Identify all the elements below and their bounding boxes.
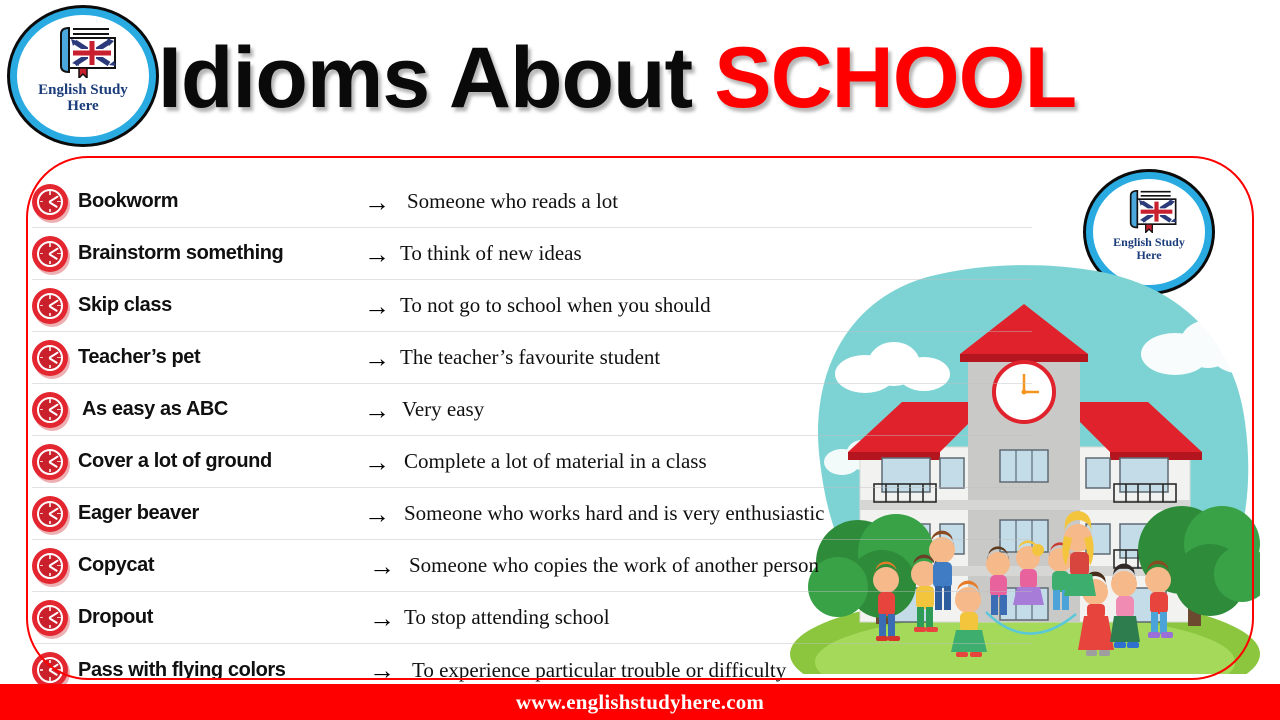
- logo-line1: English Study: [1113, 236, 1185, 249]
- title-accent: SCHOOL: [714, 29, 1076, 128]
- clock-bullet-icon: [32, 444, 68, 480]
- footer-bar: www.englishstudyhere.com: [0, 684, 1280, 720]
- idiom-term: Cover a lot of ground: [78, 450, 272, 473]
- clock-bullet-icon: [32, 652, 68, 688]
- book-uk-flag-icon: [47, 24, 119, 78]
- idiom-row: Teacher’s pet→The teacher’s favourite st…: [32, 332, 1032, 384]
- logo-line2: Here: [38, 99, 128, 115]
- idiom-row: As easy as ABC→Very easy: [32, 384, 1032, 436]
- idiom-meaning: Complete a lot of material in a class: [404, 449, 707, 474]
- idiom-list: Bookworm→Someone who reads a lotBrainsto…: [32, 176, 1032, 696]
- page-title: Idioms About SCHOOL: [158, 24, 1278, 132]
- clock-bullet-icon: [32, 548, 68, 584]
- idiom-row: Eager beaver→Someone who works hard and …: [32, 488, 1032, 540]
- idiom-term: Brainstorm something: [78, 242, 283, 265]
- idiom-term: Skip class: [78, 294, 172, 317]
- arrow-right-icon: →: [364, 397, 390, 423]
- idiom-meaning: To stop attending school: [404, 605, 610, 630]
- idiom-term: Teacher’s pet: [78, 346, 200, 369]
- arrow-right-icon: →: [364, 241, 390, 267]
- idiom-meaning: To experience particular trouble or diff…: [412, 658, 786, 683]
- idiom-row: Brainstorm something→To think of new ide…: [32, 228, 1032, 280]
- idiom-meaning: Someone who copies the work of another p…: [409, 553, 819, 578]
- idiom-term: Pass with flying colors: [78, 659, 286, 682]
- clock-bullet-icon: [32, 392, 68, 428]
- poster-root: English Study Here Idioms About SCHOOL: [0, 0, 1280, 720]
- idiom-meaning: Someone who reads a lot: [407, 189, 618, 214]
- idiom-term: Dropout: [78, 606, 153, 629]
- idiom-meaning: Someone who works hard and is very enthu…: [404, 501, 825, 526]
- idiom-row: Cover a lot of ground→Complete a lot of …: [32, 436, 1032, 488]
- title-main: Idioms About: [158, 29, 692, 128]
- idiom-row: Dropout→To stop attending school: [32, 592, 1032, 644]
- arrow-right-icon: →: [364, 501, 390, 527]
- logo-line1: English Study: [38, 83, 128, 99]
- idiom-meaning: The teacher’s favourite student: [400, 345, 660, 370]
- idiom-term: Copycat: [78, 554, 154, 577]
- poster-header: English Study Here Idioms About SCHOOL: [0, 0, 1280, 150]
- logo-line2: Here: [1113, 249, 1185, 262]
- clock-bullet-icon: [32, 340, 68, 376]
- logo-text: English Study Here: [38, 83, 128, 115]
- arrow-right-icon: →: [369, 605, 395, 631]
- idiom-row: Skip class→To not go to school when you …: [32, 280, 1032, 332]
- clock-bullet-icon: [32, 496, 68, 532]
- arrow-right-icon: →: [364, 189, 390, 215]
- arrow-right-icon: →: [369, 657, 395, 683]
- clock-bullet-icon: [32, 236, 68, 272]
- idiom-meaning: To think of new ideas: [400, 241, 582, 266]
- book-uk-flag-icon: [1119, 187, 1179, 233]
- arrow-right-icon: →: [364, 293, 390, 319]
- clock-bullet-icon: [32, 600, 68, 636]
- clock-bullet-icon: [32, 184, 68, 220]
- idiom-meaning: Very easy: [402, 397, 484, 422]
- clock-bullet-icon: [32, 288, 68, 324]
- logo-english-study-here: English Study Here: [10, 8, 156, 144]
- logo-text: English Study Here: [1113, 236, 1185, 261]
- arrow-right-icon: →: [369, 553, 395, 579]
- idiom-row: Copycat→Someone who copies the work of a…: [32, 540, 1032, 592]
- website-url: www.englishstudyhere.com: [516, 690, 764, 715]
- idiom-term: Bookworm: [78, 190, 178, 213]
- idiom-meaning: To not go to school when you should: [400, 293, 711, 318]
- idiom-row: Bookworm→Someone who reads a lot: [32, 176, 1032, 228]
- idiom-term: Eager beaver: [78, 502, 199, 525]
- idiom-term: As easy as ABC: [82, 398, 228, 421]
- arrow-right-icon: →: [364, 345, 390, 371]
- arrow-right-icon: →: [364, 449, 390, 475]
